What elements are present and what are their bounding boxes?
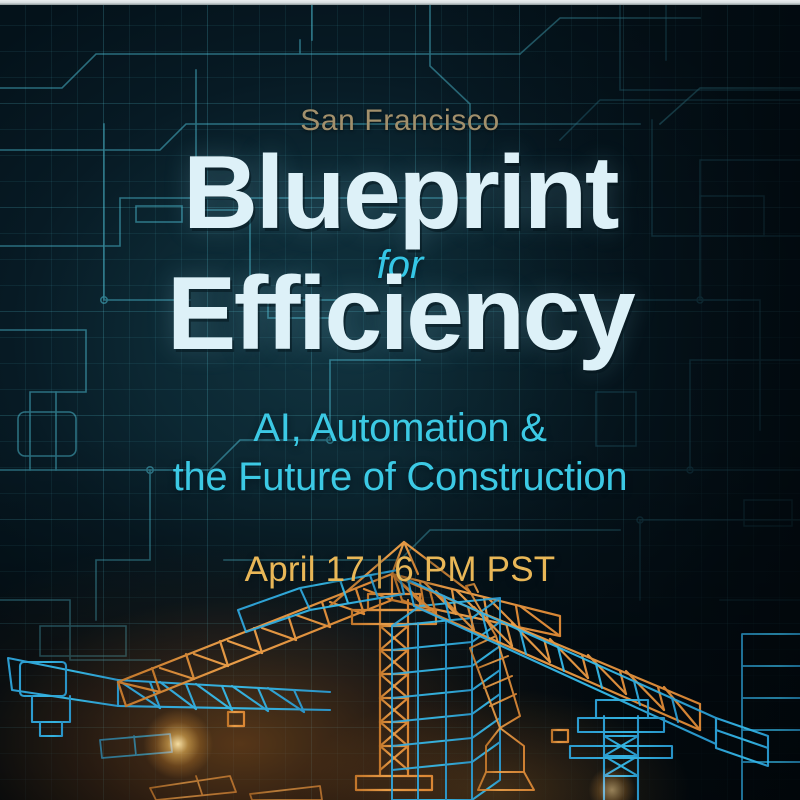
poster-canvas: San Francisco Blueprint for Efficiency A… xyxy=(0,0,800,800)
page-title-line-1: Blueprint xyxy=(0,141,800,245)
subtitle: AI, Automation & the Future of Construct… xyxy=(0,404,800,502)
city-label: San Francisco xyxy=(0,104,800,138)
event-datetime: April 17|6 PM PST xyxy=(0,550,800,590)
event-time: 6 PM PST xyxy=(394,550,555,589)
poster-content: San Francisco Blueprint for Efficiency A… xyxy=(0,0,800,800)
page-title-line-2: Efficiency xyxy=(0,262,800,366)
subtitle-line-1: AI, Automation & xyxy=(0,404,800,453)
event-date: April 17 xyxy=(245,550,365,589)
subtitle-line-2: the Future of Construction xyxy=(0,453,800,502)
top-edge-strip xyxy=(0,0,800,5)
datetime-separator: | xyxy=(365,550,394,589)
